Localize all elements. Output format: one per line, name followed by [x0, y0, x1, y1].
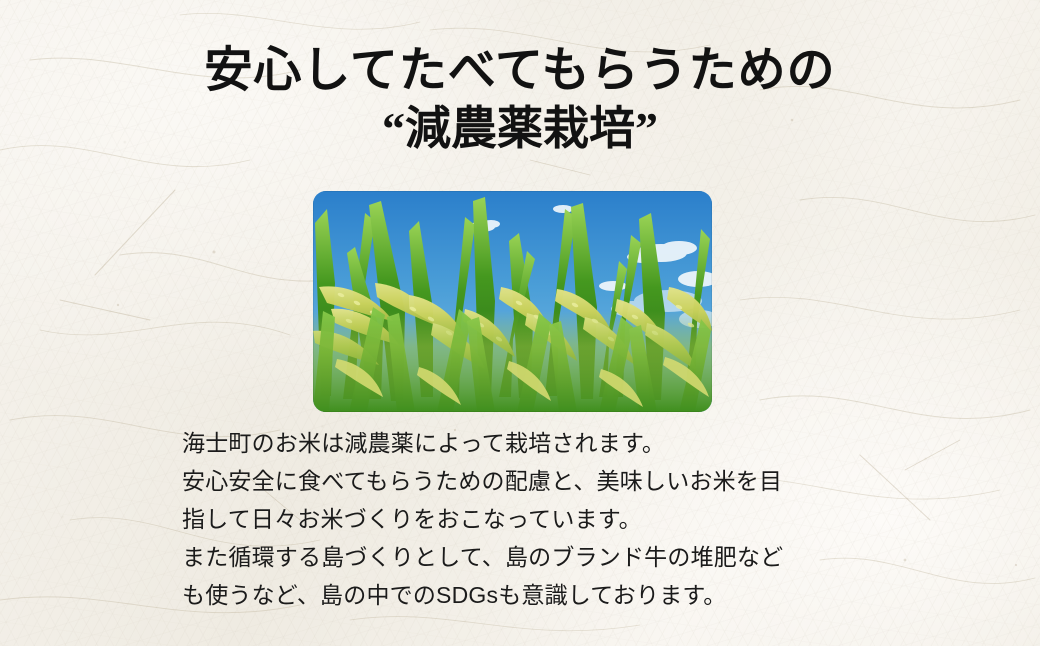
page-title-line-1: 安心してたべてもらうための [0, 42, 1040, 100]
promo-page: 安心してたべてもらうための “減農薬栽培” [0, 0, 1040, 646]
body-line: 海士町のお米は減農薬によって栽培されます。 [182, 424, 882, 462]
body-line: また循環する島づくりとして、島のブランド牛の堆肥など [182, 538, 882, 576]
page-title-line-2: “減農薬栽培” [0, 100, 1040, 158]
body-copy: 海士町のお米は減農薬によって栽培されます。 安心安全に食べてもらうための配慮と、… [182, 424, 882, 614]
body-line: も使うなど、島の中でのSDGsも意識しております。 [182, 576, 882, 614]
body-line: 指して日々お米づくりをおこなっています。 [182, 500, 882, 538]
page-title: 安心してたべてもらうための “減農薬栽培” [0, 42, 1040, 158]
body-line: 安心安全に食べてもらうための配慮と、美味しいお米を目 [182, 462, 882, 500]
rice-field-photo [313, 191, 712, 412]
